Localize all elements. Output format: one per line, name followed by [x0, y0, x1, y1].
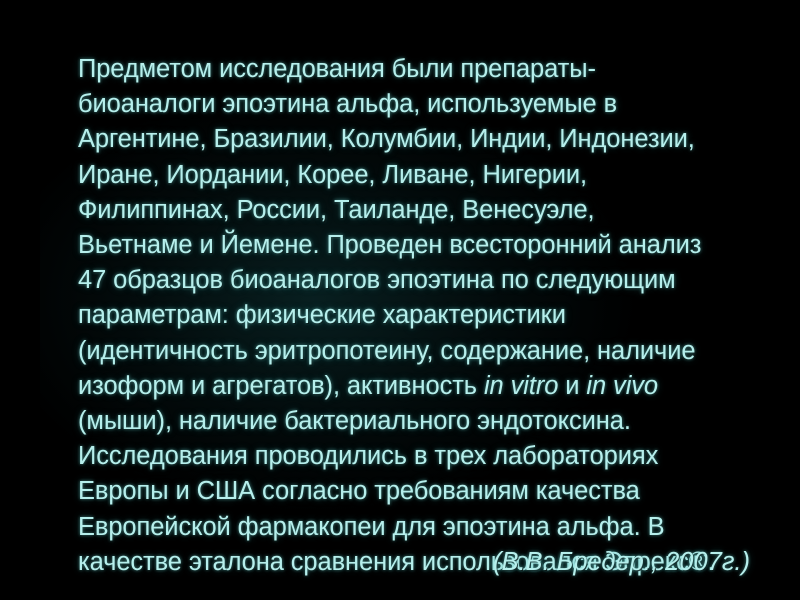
- body-line-6: Вьетнаме и Йемене. Проведен всесторонний…: [78, 228, 768, 263]
- body-line-3: Аргентине, Бразилии, Колумбии, Индии, Ин…: [78, 122, 768, 157]
- term-in-vitro: in vitro: [484, 372, 558, 400]
- slide-body-text: Предметом исследования были препараты-би…: [78, 52, 768, 580]
- body-line-11: (мыши), наличие бактериального эндотокси…: [78, 404, 768, 439]
- body-line-8: параметрам: физические характеристики: [78, 298, 768, 333]
- body-line-9: (идентичность эритропотеину, содержание,…: [78, 334, 768, 369]
- source-attribution: (В.В. Бредер., 2007г.): [78, 546, 750, 578]
- body-line-2: биоаналоги эпоэтина альфа, используемые …: [78, 87, 768, 122]
- body-line-1: Предметом исследования были препараты-: [78, 52, 768, 87]
- presentation-slide: Предметом исследования были препараты-би…: [0, 0, 800, 600]
- body-line-12: Исследования проводились в трех лаборато…: [78, 439, 768, 474]
- body-line-5: Филиппинах, России, Таиланде, Венесуэле,: [78, 193, 768, 228]
- body-line-10-conjunction: и: [558, 372, 586, 400]
- body-line-10-prefix: изоформ и агрегатов), активность: [78, 372, 484, 400]
- body-line-7: 47 образцов биоаналогов эпоэтина по след…: [78, 263, 768, 298]
- body-line-4: Иране, Иордании, Корее, Ливане, Нигерии,: [78, 158, 768, 193]
- body-line-13: Европы и США согласно требованиям качест…: [78, 474, 768, 509]
- body-line-14: Европейской фармакопеи для эпоэтина альф…: [78, 510, 768, 545]
- term-in-vivo: in vivo: [586, 372, 658, 400]
- body-line-10: изоформ и агрегатов), активность in vitr…: [78, 369, 768, 404]
